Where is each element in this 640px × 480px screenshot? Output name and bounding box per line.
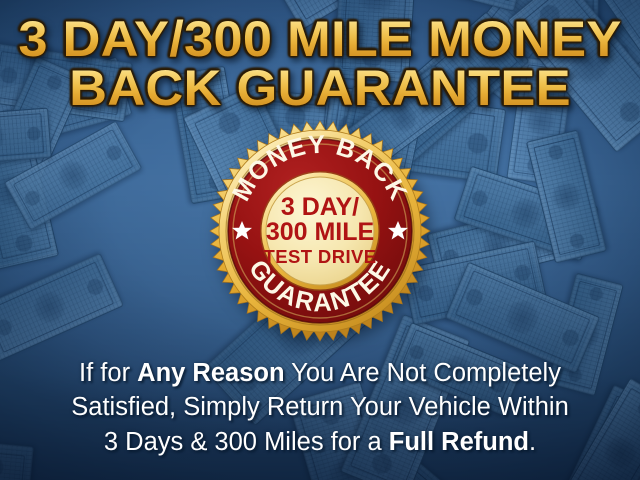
guarantee-description: If for Any Reason You Are Not Completely… xyxy=(16,356,624,459)
seal-inner-line-3: TEST DRIVE xyxy=(264,246,377,267)
money-back-guarantee-seal: MONEY BACK GUARANTEE 3 DAY/ 300 MILE TES… xyxy=(208,119,432,343)
description-line-1-part-a: If for xyxy=(79,359,137,387)
description-line-1-part-c: You Are Not Completely xyxy=(285,359,561,387)
description-emphasis-full-refund: Full Refund xyxy=(389,428,529,456)
description-line-3-part-a: 3 Days & 300 Miles for a xyxy=(104,428,389,456)
description-line-2: Satisfied, Simply Return Your Vehicle Wi… xyxy=(16,390,624,424)
promo-banner: 3 DAY/300 MILE MONEY BACK GUARANTEE xyxy=(0,0,640,480)
seal-inner-line-1: 3 DAY/ xyxy=(281,193,359,221)
headline-line-2: BACK GUARANTEE xyxy=(0,65,640,112)
description-line-1: If for Any Reason You Are Not Completely xyxy=(16,356,624,390)
description-emphasis-any-reason: Any Reason xyxy=(137,359,284,387)
description-line-3-part-c: . xyxy=(529,428,536,456)
seal-inner-line-2: 300 MILE xyxy=(266,218,374,246)
description-line-3: 3 Days & 300 Miles for a Full Refund. xyxy=(16,425,624,459)
seal-graphic: MONEY BACK GUARANTEE 3 DAY/ 300 MILE TES… xyxy=(208,119,432,343)
headline-line-1: 3 DAY/300 MILE MONEY xyxy=(0,16,640,63)
headline: 3 DAY/300 MILE MONEY BACK GUARANTEE xyxy=(0,16,640,112)
